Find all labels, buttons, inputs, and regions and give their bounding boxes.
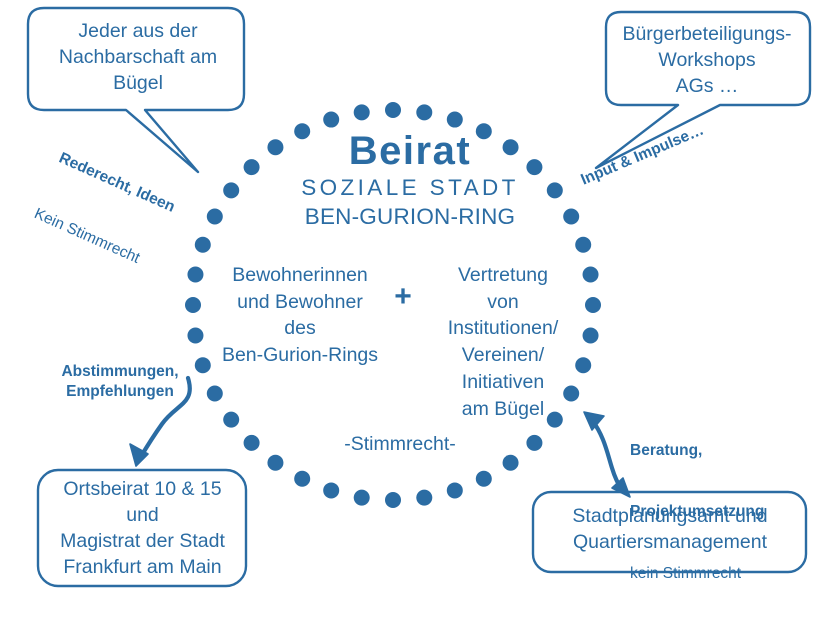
ring-dot bbox=[385, 102, 401, 118]
ring-dot bbox=[354, 104, 370, 120]
bubble-top-right-label: Bürgerbeteiligungs- Workshops AGs … bbox=[608, 21, 806, 99]
page-subtitle-soziale-stadt: SOZIALE STADT bbox=[250, 174, 570, 203]
connector-label-beratung-line1: Beratung, bbox=[630, 441, 820, 461]
ring-dot bbox=[223, 182, 239, 198]
ring-dot bbox=[575, 237, 591, 253]
ring-dot bbox=[187, 267, 203, 283]
ring-dot bbox=[244, 435, 260, 451]
bubble-top-left-label: Jeder aus der Nachbarschaft am Bügel bbox=[38, 18, 238, 96]
box-bottom-left-label: Ortsbeirat 10 & 15 und Magistrat der Sta… bbox=[40, 476, 245, 581]
ring-dot bbox=[354, 490, 370, 506]
connector-label-rederecht-regular: Kein Stimmrecht bbox=[31, 204, 153, 273]
page-subtitle-ben-gurion-ring: BEN-GURION-RING bbox=[250, 203, 570, 232]
ring-dot bbox=[323, 482, 339, 498]
ring-dot bbox=[416, 104, 432, 120]
connector-label-beratung-line3: kein Stimmrecht bbox=[630, 564, 820, 584]
ring-dot bbox=[207, 386, 223, 402]
ring-dot bbox=[267, 455, 283, 471]
box-bottom-right-label: Stadtplanungsamt und Quartiersmanagement bbox=[535, 503, 805, 555]
ring-dot bbox=[207, 208, 223, 224]
plus-icon: + bbox=[386, 278, 420, 316]
connector-label-rederecht-bold: Rederecht, Ideen bbox=[55, 149, 177, 218]
ring-dot bbox=[223, 412, 239, 428]
center-footer-stimmrecht: -Stimmrecht- bbox=[300, 432, 500, 457]
arrow-ring-to-stadtplanungsamt bbox=[584, 412, 630, 497]
page-title: Beirat bbox=[250, 126, 570, 177]
ring-dot bbox=[195, 237, 211, 253]
ring-dot bbox=[187, 328, 203, 344]
ring-dot bbox=[294, 471, 310, 487]
center-column-bewohner: Bewohnerinnen und Bewohner des Ben-Gurio… bbox=[210, 262, 390, 369]
ring-dot bbox=[416, 490, 432, 506]
ring-dot bbox=[526, 435, 542, 451]
ring-dot bbox=[503, 455, 519, 471]
ring-dot bbox=[385, 492, 401, 508]
connector-label-abstimmungen: Abstimmungen, Empfehlungen bbox=[40, 362, 200, 403]
diagram-canvas: Jeder aus der Nachbarschaft am Bügel Bür… bbox=[0, 0, 820, 600]
ring-dot bbox=[185, 297, 201, 313]
center-column-vertretung: Vertretung von Institutionen/ Vereinen/ … bbox=[418, 262, 588, 422]
ring-dot bbox=[447, 482, 463, 498]
ring-dot bbox=[476, 471, 492, 487]
